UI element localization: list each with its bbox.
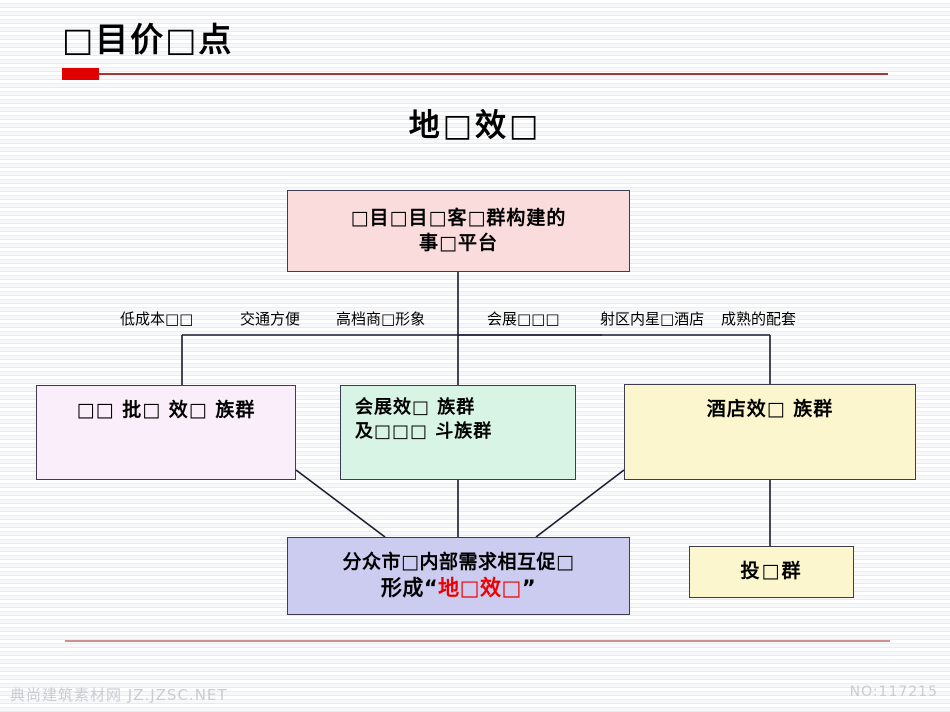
node-exhibition-cluster: 会展效□ 族群 及□□□ 斗族群	[340, 385, 576, 480]
slide-canvas: □目价□点 地□效□ 低成本□□	[0, 0, 950, 712]
connector-label-premium-image: 高档商□形象	[336, 308, 425, 329]
connector-label-mature-facilities: 成熟的配套	[721, 308, 796, 329]
node-left-line1: □□ 批□ 效□ 族群	[37, 398, 295, 423]
node-top-platform: □目□目□客□群构建的 事□平台	[287, 190, 630, 272]
page-title: □目价□点	[62, 20, 233, 60]
connector-label-exhibition: 会展□□□	[487, 308, 560, 329]
node-hotel-cluster: 酒店效□ 族群	[624, 384, 916, 480]
wire-right-to-bottom	[536, 470, 624, 537]
node-bottom-line2-prefix: 形成“	[381, 576, 438, 600]
node-invest-line1: 投□群	[741, 559, 803, 584]
node-top-line1: □目□目□客□群构建的	[351, 206, 567, 231]
connector-label-transport: 交通方便	[240, 308, 300, 329]
node-bottom-line2-suffix: ”	[522, 576, 536, 600]
node-synergy-result: 分众市□内部需求相互促□ 形成“地□效□”	[287, 537, 630, 615]
slide-subtitle: 地□效□	[0, 100, 950, 145]
footer-number: NO:117215	[850, 684, 938, 700]
node-bottom-line2: 形成“地□效□”	[381, 575, 536, 603]
connector-label-low-cost: 低成本□□	[120, 308, 193, 329]
wire-left-to-bottom	[296, 470, 385, 537]
title-accent-block	[62, 68, 99, 80]
node-wholesale-cluster: □□ 批□ 效□ 族群	[36, 385, 296, 480]
title-underline-rule	[62, 73, 888, 75]
node-mid-line2: 及□□□ 斗族群	[355, 420, 492, 444]
node-bottom-line2-emphasis: 地□效□	[438, 576, 522, 600]
node-mid-line1: 会展效□ 族群	[355, 396, 475, 420]
node-investor-group: 投□群	[689, 546, 854, 598]
footer-watermark: 典尚建筑素材网 JZ.JZSC.NET	[10, 684, 228, 705]
node-top-line2: 事□平台	[419, 231, 498, 256]
node-bottom-line1: 分众市□内部需求相互促□	[343, 550, 575, 575]
connector-label-star-hotel: 射区内星□酒店	[600, 308, 704, 329]
footer-rule	[65, 640, 890, 642]
node-right-line1: 酒店效□ 族群	[625, 397, 915, 422]
